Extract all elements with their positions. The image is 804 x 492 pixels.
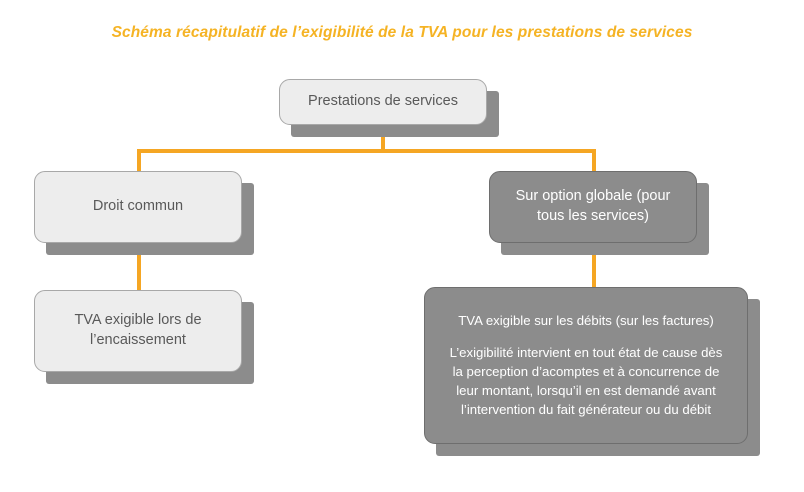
connector-drop-right xyxy=(592,149,596,173)
diagram-canvas: Schéma récapitulatif de l’exigibilité de… xyxy=(0,0,804,492)
connector-horizontal-bar xyxy=(137,149,596,153)
node-card: Droit commun xyxy=(34,171,242,243)
node-prestations-de-services[interactable]: Prestations de services xyxy=(279,79,487,125)
node-text-block: TVA exigible sur les débits (sur les fac… xyxy=(425,312,747,420)
node-heading: TVA exigible sur les débits (sur les fac… xyxy=(439,312,733,331)
node-body: L’exigibilité intervient en tout état de… xyxy=(439,344,733,419)
node-label: Prestations de services xyxy=(298,92,468,112)
node-tva-exigible-debits[interactable]: TVA exigible sur les débits (sur les fac… xyxy=(424,287,748,444)
node-card: Sur option globale (pour tous les servic… xyxy=(489,171,697,243)
node-sur-option-globale[interactable]: Sur option globale (pour tous les servic… xyxy=(489,171,697,243)
node-card: TVA exigible sur les débits (sur les fac… xyxy=(424,287,748,444)
node-label: Droit commun xyxy=(83,197,193,217)
node-label: Sur option globale (pour tous les servic… xyxy=(490,187,696,226)
node-card: TVA exigible lors de l’encaissement xyxy=(34,290,242,372)
diagram-title: Schéma récapitulatif de l’exigibilité de… xyxy=(0,24,804,42)
node-label: TVA exigible lors de l’encaissement xyxy=(35,311,241,350)
node-tva-exigible-encaissement[interactable]: TVA exigible lors de l’encaissement xyxy=(34,290,242,372)
connector-drop-left xyxy=(137,149,141,173)
node-droit-commun[interactable]: Droit commun xyxy=(34,171,242,243)
node-card: Prestations de services xyxy=(279,79,487,125)
